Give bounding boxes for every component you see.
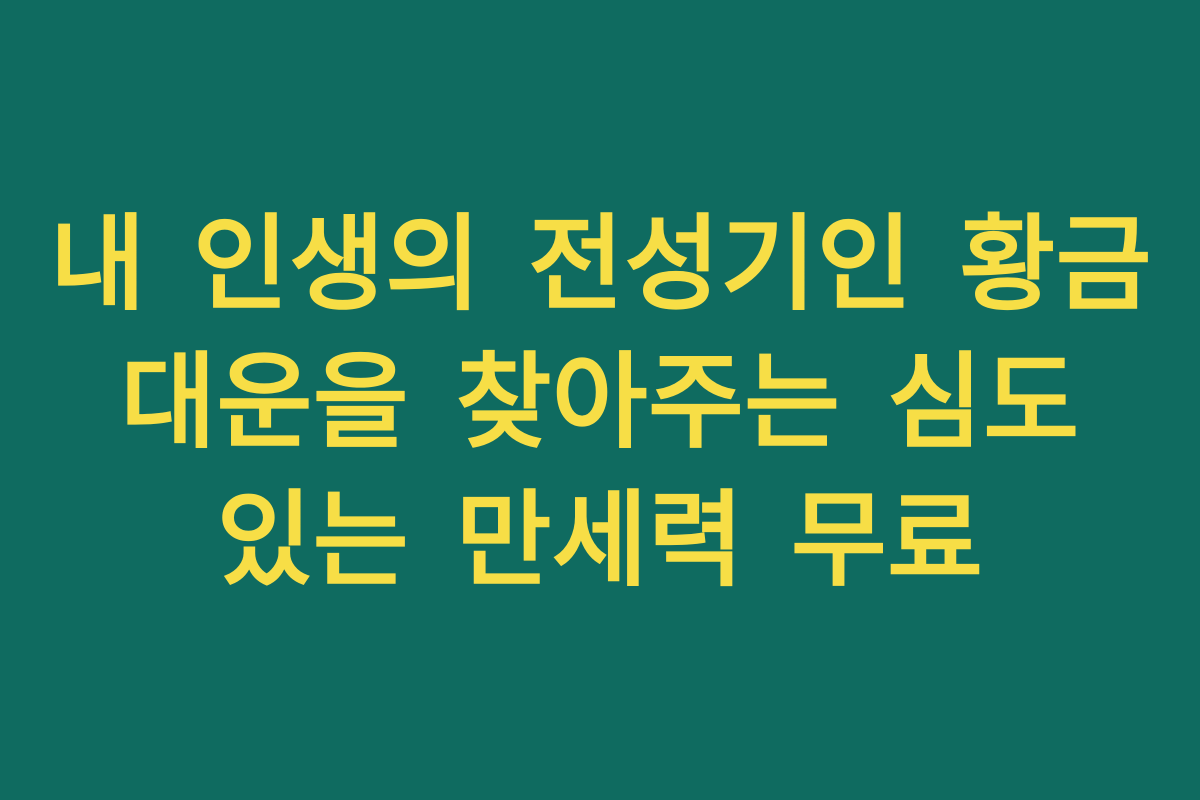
headline-line-2: 대운을 찾아주는 심도 xyxy=(50,333,1150,471)
headline-line-3: 있는 만세력 무료 xyxy=(50,471,1150,609)
page-title: 내 인생의 전성기인 황금 대운을 찾아주는 심도 있는 만세력 무료 xyxy=(50,195,1150,609)
headline-line-1: 내 인생의 전성기인 황금 xyxy=(50,195,1150,333)
promo-banner: 내 인생의 전성기인 황금 대운을 찾아주는 심도 있는 만세력 무료 xyxy=(0,0,1200,800)
